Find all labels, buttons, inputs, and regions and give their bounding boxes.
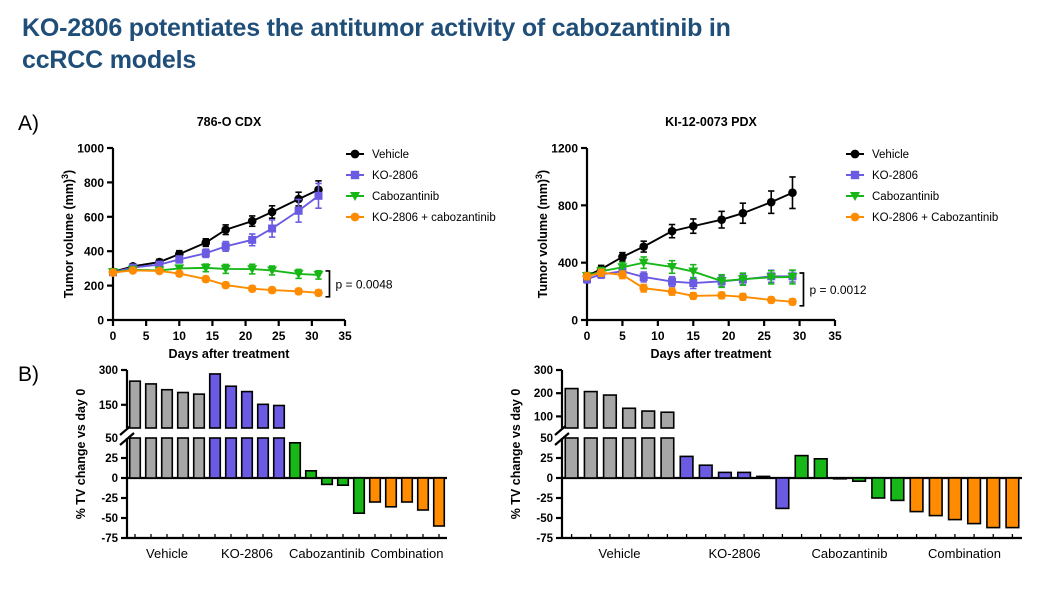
pvalue-annotation: p = 0.0048 (325, 271, 392, 297)
y-tick-label: 800 (84, 176, 104, 190)
waterfall-bar (834, 478, 847, 479)
x-tick-label: 5 (143, 329, 150, 343)
x-tick-label: 30 (793, 329, 807, 343)
group-label: Cabozantinib (289, 546, 365, 561)
series-0 (109, 181, 323, 276)
y-tick-label: -25 (101, 493, 118, 505)
waterfall-bar-upper (226, 386, 237, 428)
y-tick-label: 200 (534, 388, 553, 400)
group-label: Combination (928, 546, 1001, 561)
waterfall-bar (642, 438, 655, 478)
figure-title: KO-2806 potentiates the antitumor activi… (22, 12, 782, 76)
waterfall-bar (178, 438, 189, 478)
series-3 (583, 268, 797, 306)
y-tick-label: 0 (547, 473, 553, 485)
waterfall-bar (226, 438, 237, 478)
waterfall-bar (322, 478, 333, 484)
waterfall-bar (354, 478, 365, 513)
y-tick-label: 0 (112, 473, 118, 485)
waterfall-bar-upper (242, 392, 253, 428)
waterfall-bar (968, 478, 981, 524)
y-tick-label: 150 (99, 400, 118, 412)
waterfall-bar (565, 438, 578, 478)
waterfall-bar (661, 438, 674, 478)
x-tick-label: 15 (206, 329, 220, 343)
group-label: Vehicle (599, 546, 641, 561)
x-tick-label: 20 (722, 329, 736, 343)
y-tick-label: 50 (105, 433, 118, 445)
waterfall-bar-upper (258, 404, 269, 428)
waterfall-bar (258, 438, 269, 478)
waterfall-bar (604, 438, 617, 478)
waterfall-bar (814, 459, 827, 478)
series-3 (109, 266, 323, 297)
y-tick-label: 400 (84, 245, 104, 259)
series-1 (109, 183, 322, 276)
y-tick-label: 300 (99, 365, 118, 377)
group-label: Vehicle (146, 546, 188, 561)
y-tick-label: -50 (536, 513, 553, 525)
waterfall-bar (949, 478, 962, 520)
waterfall-bar (891, 478, 904, 500)
legend-label: KO-2806 (372, 170, 418, 182)
waterfall-bar (130, 438, 141, 478)
waterfall-bar (434, 478, 445, 526)
waterfall-bar (872, 478, 885, 498)
x-tick-label: 10 (173, 329, 187, 343)
group-label: KO-2806 (221, 546, 273, 561)
waterfall-bar (910, 478, 923, 512)
waterfall-bar (680, 456, 693, 478)
pvalue-label: p = 0.0012 (809, 283, 866, 297)
group-label: Cabozantinib (812, 546, 888, 561)
x-tick-label: 25 (757, 329, 771, 343)
waterfall-bar-upper (565, 389, 578, 428)
y-tick-label: 0 (571, 314, 578, 328)
x-tick-label: 15 (687, 329, 701, 343)
panel-a-left-chart: 786-O CDX0200400600800100005101520253035… (55, 110, 525, 360)
waterfall-bar (719, 472, 732, 478)
y-tick-label: -25 (536, 493, 553, 505)
waterfall-bar (162, 438, 173, 478)
x-tick-label: 35 (828, 329, 842, 343)
panel-b-letter: B) (18, 363, 39, 387)
x-tick-label: 25 (272, 329, 286, 343)
legend-label: Vehicle (372, 149, 409, 161)
y-tick-label: 100 (534, 411, 553, 423)
y-tick-label: 25 (105, 453, 118, 465)
y-tick-label: -75 (101, 533, 118, 545)
waterfall-bar (402, 478, 413, 502)
y-tick-label: 25 (540, 453, 553, 465)
y-axis-title: % TV change vs day 0 (74, 389, 88, 520)
waterfall-bar-upper (162, 390, 173, 428)
waterfall-bar (623, 438, 636, 478)
x-tick-label: 0 (110, 329, 117, 343)
waterfall-bar (194, 438, 205, 478)
waterfall-bar-upper (642, 411, 655, 428)
group-label: KO-2806 (708, 546, 760, 561)
x-axis-title: Days after treatment (169, 347, 291, 360)
legend-label: KO-2806 (872, 170, 918, 182)
waterfall-bar (795, 456, 808, 478)
y-tick-label: 800 (558, 199, 578, 213)
legend: VehicleKO-2806CabozantinibKO-2806 + cabo… (346, 149, 496, 224)
y-tick-label: 600 (84, 210, 104, 224)
waterfall-bar-upper (194, 394, 205, 428)
chart-title: KI-12-0073 PDX (665, 115, 757, 129)
waterfall-bar (274, 438, 285, 478)
series-0 (583, 177, 797, 280)
chart-title: 786-O CDX (197, 115, 262, 129)
x-tick-label: 35 (338, 329, 352, 343)
waterfall-bar (242, 438, 253, 478)
x-tick-label: 10 (651, 329, 665, 343)
x-tick-label: 5 (619, 329, 626, 343)
waterfall-bar (699, 465, 712, 478)
pvalue-annotation: p = 0.0012 (799, 273, 866, 306)
y-axis-title: % TV change vs day 0 (509, 389, 523, 520)
waterfall-bar (738, 472, 751, 478)
axes (113, 148, 345, 320)
waterfall-bar (776, 478, 789, 508)
waterfall-bar (757, 476, 770, 478)
waterfall-bar-upper (623, 408, 636, 428)
waterfall-bar (1006, 478, 1019, 528)
waterfall-bar-upper (146, 384, 157, 428)
waterfall-bar (306, 471, 317, 478)
y-axis-title: Tumor volume (mm)3) (60, 170, 76, 298)
legend-label: Cabozantinib (872, 191, 939, 203)
waterfall-bar-upper (130, 381, 141, 428)
waterfall-bar (210, 438, 221, 478)
legend: VehicleKO-2806CabozantinibKO-2806 + Cabo… (846, 149, 998, 224)
y-tick-label: -50 (101, 513, 118, 525)
waterfall-bar-upper (604, 395, 617, 428)
waterfall-bar (146, 438, 157, 478)
waterfall-bar-upper (178, 393, 189, 428)
waterfall-bar (987, 478, 1000, 528)
x-tick-label: 20 (239, 329, 253, 343)
waterfall-bar-upper (210, 374, 221, 428)
waterfall-bar (584, 438, 597, 478)
legend-label: KO-2806 + cabozantinib (372, 212, 496, 224)
waterfall-bar (929, 478, 942, 516)
waterfall-bar-upper (584, 392, 597, 428)
panel-b-right-chart: 100200300-75-50-2502550% TV change vs da… (490, 362, 1046, 606)
x-tick-label: 0 (584, 329, 591, 343)
waterfall-bar (338, 478, 349, 485)
waterfall-bar (853, 478, 866, 481)
axes (587, 148, 835, 320)
x-axis-title: Days after treatment (651, 347, 773, 360)
waterfall-bar-upper (661, 412, 674, 428)
x-tick-label: 30 (305, 329, 319, 343)
legend-label: Cabozantinib (372, 191, 439, 203)
y-tick-label: 1200 (551, 142, 578, 156)
legend-label: KO-2806 + Cabozantinib (872, 212, 998, 224)
y-tick-label: 200 (84, 279, 104, 293)
waterfall-bar (386, 478, 397, 507)
y-tick-label: -75 (536, 533, 553, 545)
waterfall-bar (418, 478, 429, 510)
pvalue-label: p = 0.0048 (335, 277, 392, 291)
waterfall-bar (290, 443, 301, 478)
panel-b-left-chart: 150300-75-50-2502550% TV change vs day 0… (55, 362, 475, 606)
figure-root: KO-2806 potentiates the antitumor activi… (0, 0, 1046, 606)
group-label: Combination (371, 546, 444, 561)
y-tick-label: 400 (558, 256, 578, 270)
y-tick-label: 300 (534, 365, 553, 377)
panel-a-letter: A) (18, 112, 39, 136)
y-axis-title: Tumor volume (mm)3) (534, 170, 550, 298)
y-tick-label: 50 (540, 433, 553, 445)
y-tick-label: 1000 (77, 142, 104, 156)
y-tick-label: 0 (97, 314, 104, 328)
legend-label: Vehicle (872, 149, 909, 161)
waterfall-bar (370, 478, 381, 502)
panel-a-right-chart: KI-12-0073 PDX0400800120005101520253035D… (525, 110, 1046, 360)
waterfall-bar-upper (274, 405, 285, 428)
